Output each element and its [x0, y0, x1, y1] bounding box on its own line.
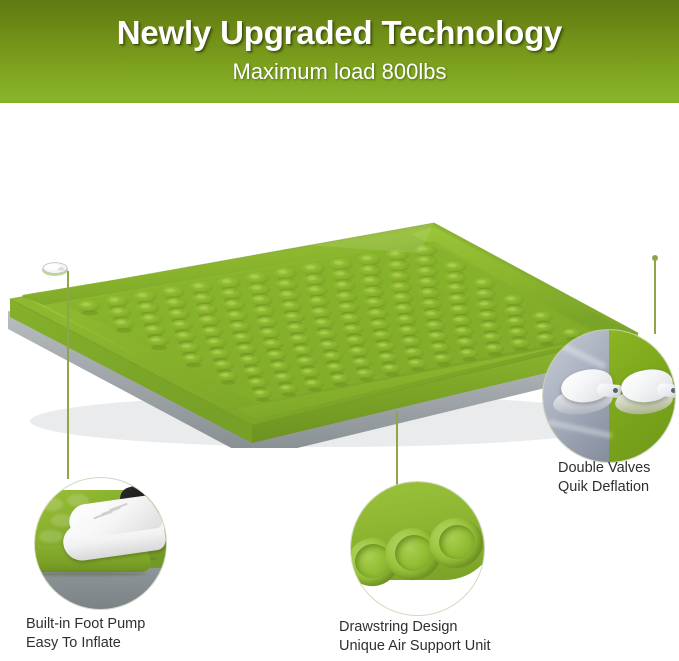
foot-pump-tuft [39, 530, 63, 543]
caption-line-2: Quik Deflation [558, 478, 650, 497]
caption-line-2: Unique Air Support Unit [339, 637, 491, 656]
callout-caption-foot-pump: Built-in Foot Pump Easy To Inflate [26, 615, 145, 653]
callout-caption-drawstring-design: Drawstring Design Unique Air Support Uni… [339, 618, 491, 656]
product-stage: Built-in Foot Pump Easy To Inflate Draws… [0, 103, 679, 661]
caption-line-1: Built-in Foot Pump [26, 616, 145, 632]
caption-line-2: Easy To Inflate [26, 634, 145, 653]
valve-tab-hole-left [613, 388, 618, 393]
caption-line-1: Drawstring Design [339, 619, 457, 635]
callout-caption-double-valves: Double Valves Quik Deflation [558, 459, 650, 497]
leader-line-drawstring [396, 411, 398, 485]
leader-line-foot-pump [67, 271, 69, 479]
leader-line-double-valves [654, 258, 656, 334]
banner-title: Newly Upgraded Technology [0, 13, 679, 53]
foot-pump-tuft [41, 498, 63, 511]
caption-line-1: Double Valves [558, 460, 650, 476]
callout-image-double-valves [543, 330, 675, 462]
callout-image-foot-pump [35, 478, 166, 609]
mattress-valve-icon [42, 263, 68, 276]
banner-subtitle: Maximum load 800lbs [0, 58, 679, 86]
valve-tab-hole-right [671, 388, 675, 393]
header-banner: Newly Upgraded Technology Maximum load 8… [0, 0, 679, 103]
callout-image-drawstring-design [351, 482, 484, 615]
